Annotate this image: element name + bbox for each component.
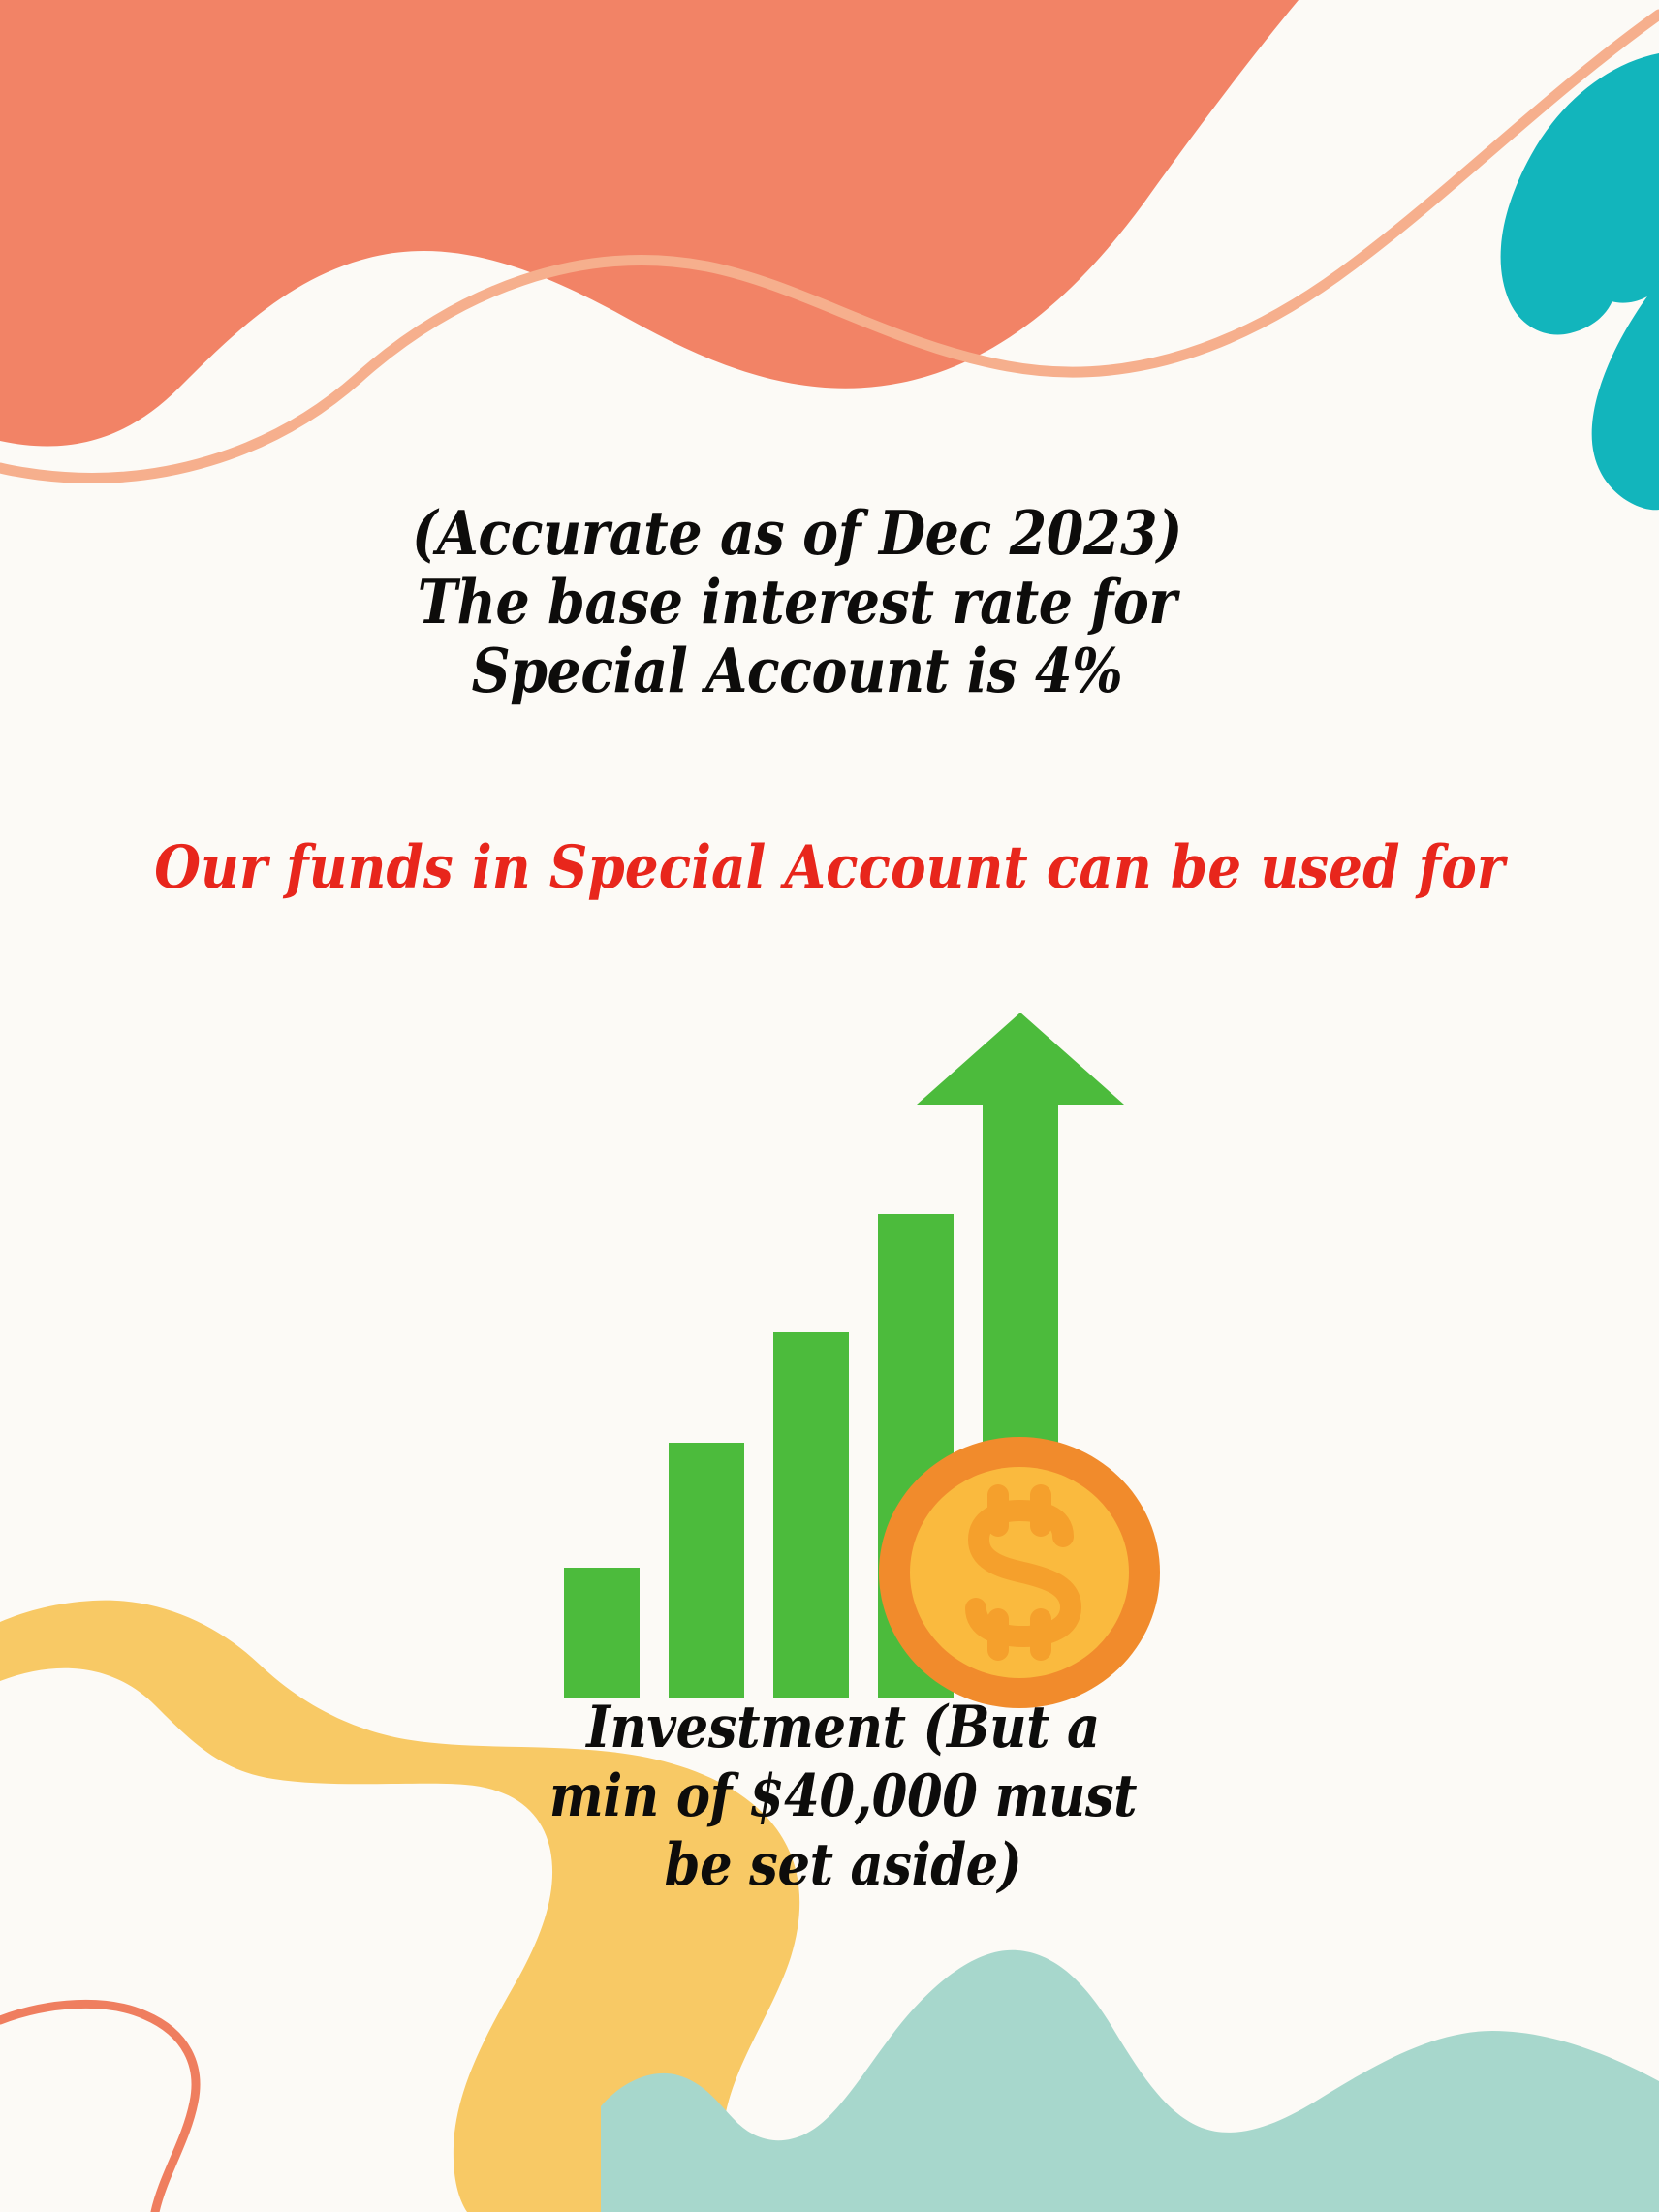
chart-caption: Investment (But a min of $40,000 must be…: [545, 1694, 1142, 1899]
infographic-poster: (Accurate as of Dec 2023) The base inter…: [0, 0, 1659, 2212]
page-title: Our funds in Special Account can be used…: [83, 835, 1577, 900]
text-layer: (Accurate as of Dec 2023) The base inter…: [0, 0, 1659, 2212]
accuracy-note: (Accurate as of Dec 2023) The base inter…: [96, 499, 1499, 706]
